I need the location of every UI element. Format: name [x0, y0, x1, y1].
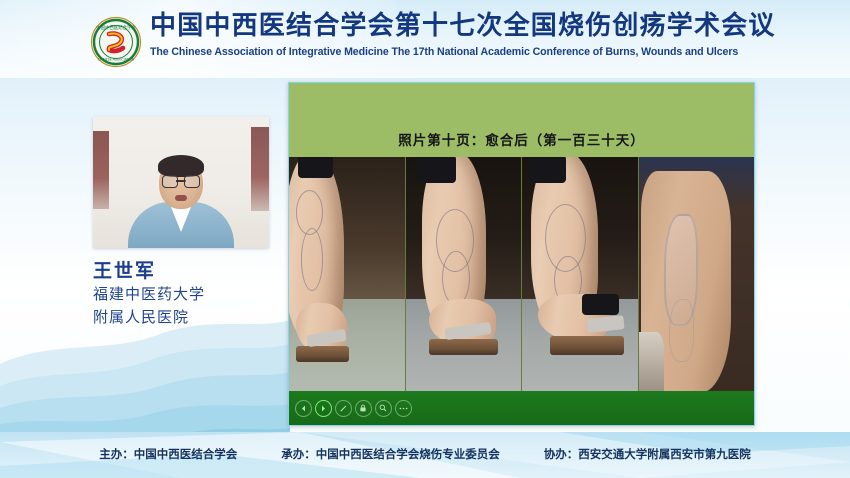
photo-3-sandal-top [529, 157, 566, 183]
photo-4-foreground-shadow [639, 332, 664, 393]
zoom-magnifier-icon[interactable] [375, 400, 392, 417]
photo-2-vein-2 [442, 251, 469, 305]
slide-photo-strip [289, 157, 754, 393]
photo-2-sandal-sole [429, 339, 498, 356]
footer-credits: 主办：中国中西医结合学会 承办：中国中西医结合学会烧伤专业委员会 协办：西安交通… [0, 446, 850, 462]
page-footer: 主办：中国中西医结合学会 承办：中国中西医结合学会烧伤专业委员会 协办：西安交通… [0, 432, 850, 478]
speaker-org-line-2: 附属人民医院 [93, 306, 205, 329]
photo-3-sandal-sole [550, 336, 624, 355]
pen-annotate-icon[interactable] [335, 400, 352, 417]
page-header: 中国中西医结合学会 CHINESE ASSOCIATION 中国中西医结合学会第… [0, 0, 850, 78]
next-slide-icon[interactable] [315, 400, 332, 417]
speaker-video-feed[interactable] [93, 117, 269, 248]
photo-1-vein-2 [301, 228, 324, 291]
photo-2-sandal-top [417, 157, 456, 183]
previous-slide-icon[interactable] [295, 400, 312, 417]
video-right-wall [251, 127, 269, 211]
slide-toolbar[interactable] [289, 391, 754, 425]
footer-organizer: 主办：中国中西医结合学会 [99, 446, 237, 462]
footer-co-organizer: 协办：西安交通大学附属西安市第九医院 [544, 446, 751, 462]
lock-icon[interactable] [355, 400, 372, 417]
photo-1-sandal-sole [296, 346, 349, 363]
speaker-glasses-icon [162, 175, 200, 186]
svg-text:CHINESE ASSOCIATION: CHINESE ASSOCIATION [98, 58, 135, 62]
slide-photo-2 [405, 157, 522, 393]
video-left-wall [93, 131, 109, 209]
more-options-icon[interactable] [395, 400, 412, 417]
slide-title: 照片第十页：愈合后（第一百三十天） [289, 129, 754, 149]
photo-4-scar-lower [669, 299, 694, 362]
footer-undertaker: 承办：中国中西医结合学会烧伤专业委员会 [281, 446, 500, 462]
slide-photo-3 [521, 157, 638, 393]
speaker-name: 王世军 [93, 256, 156, 283]
slide-photo-1 [289, 157, 405, 393]
conference-title-chinese: 中国中西医结合学会第十七次全国烧伤创疡学术会议 [150, 10, 790, 43]
photo-1-sandal-top [298, 157, 333, 178]
speaker-org-line-1: 福建中医药大学 [93, 283, 205, 306]
association-emblem-logo: 中国中西医结合学会 CHINESE ASSOCIATION [90, 16, 142, 68]
conference-title-english: The Chinese Association of Integrative M… [150, 46, 790, 58]
speaker-organization: 福建中医药大学 附属人民医院 [93, 283, 205, 329]
presentation-slide[interactable]: 照片第十页：愈合后（第一百三十天） [288, 82, 755, 426]
speaker-mouth [175, 195, 187, 201]
speaker-hair [158, 155, 204, 177]
svg-text:中国中西医结合学会: 中国中西医结合学会 [96, 24, 136, 31]
conference-livestream-screen: 中国中西医结合学会 CHINESE ASSOCIATION 中国中西医结合学会第… [0, 0, 850, 478]
photo-3-sandal-upper [582, 294, 619, 315]
slide-photo-4 [638, 157, 755, 393]
conference-title-block: 中国中西医结合学会第十七次全国烧伤创疡学术会议 The Chinese Asso… [150, 10, 790, 58]
